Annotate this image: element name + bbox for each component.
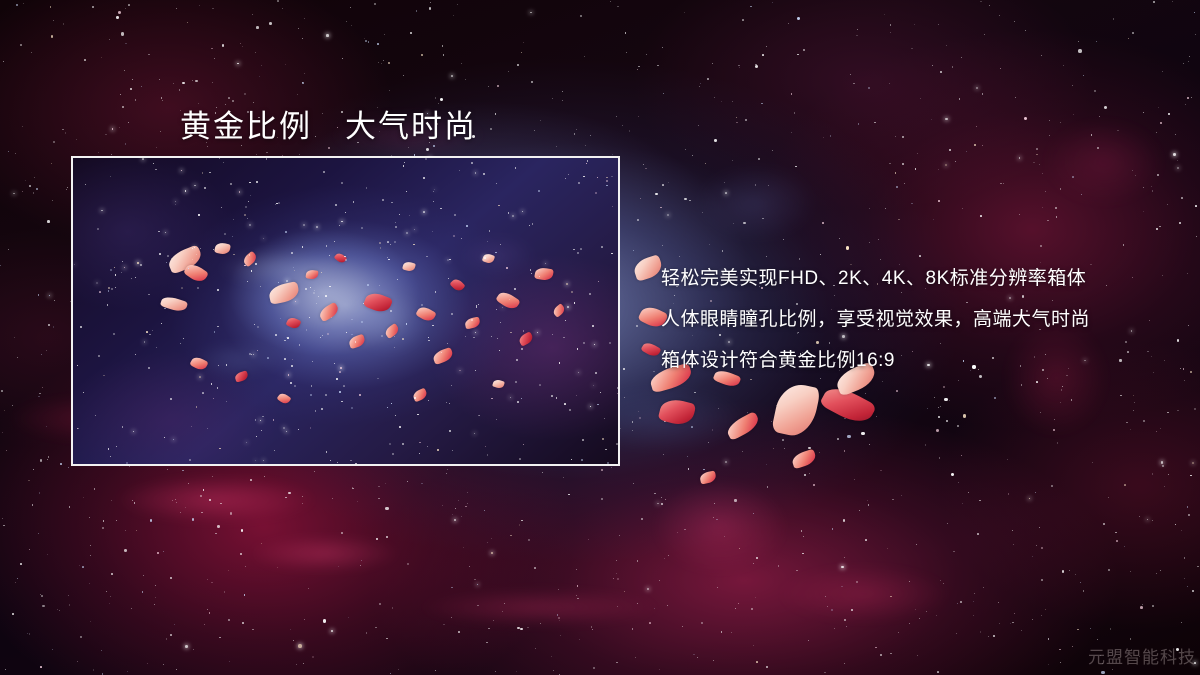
petal: [632, 254, 665, 282]
petal: [771, 380, 821, 439]
body-line-2: 人体眼睛瞳孔比例，享受视觉效果，高端大气时尚: [661, 299, 1090, 340]
body-copy-block: 轻松完美实现FHD、2K、4K、8K标准分辨率箱体 人体眼睛瞳孔比例，享受视觉效…: [661, 258, 1090, 381]
body-line-1: 轻松完美实现FHD、2K、4K、8K标准分辨率箱体: [661, 258, 1090, 299]
petal: [790, 449, 817, 470]
page-title: 黄金比例 大气时尚: [180, 101, 477, 146]
watermark-label: 元盟智能科技: [1088, 643, 1196, 668]
body-line-3: 箱体设计符合黄金比例16:9: [661, 340, 1090, 381]
petal: [699, 470, 717, 484]
petal: [658, 396, 697, 428]
petal: [819, 381, 877, 428]
presentation-slide: 黄金比例 大气时尚 轻松完美实现FHD、2K、4K、8K标准分辨率箱体 人体眼睛…: [0, 0, 1200, 675]
panel-nebula-wisps: [73, 158, 618, 464]
petal: [640, 340, 661, 359]
media-frame-panel: [71, 156, 620, 466]
petal: [724, 411, 762, 441]
